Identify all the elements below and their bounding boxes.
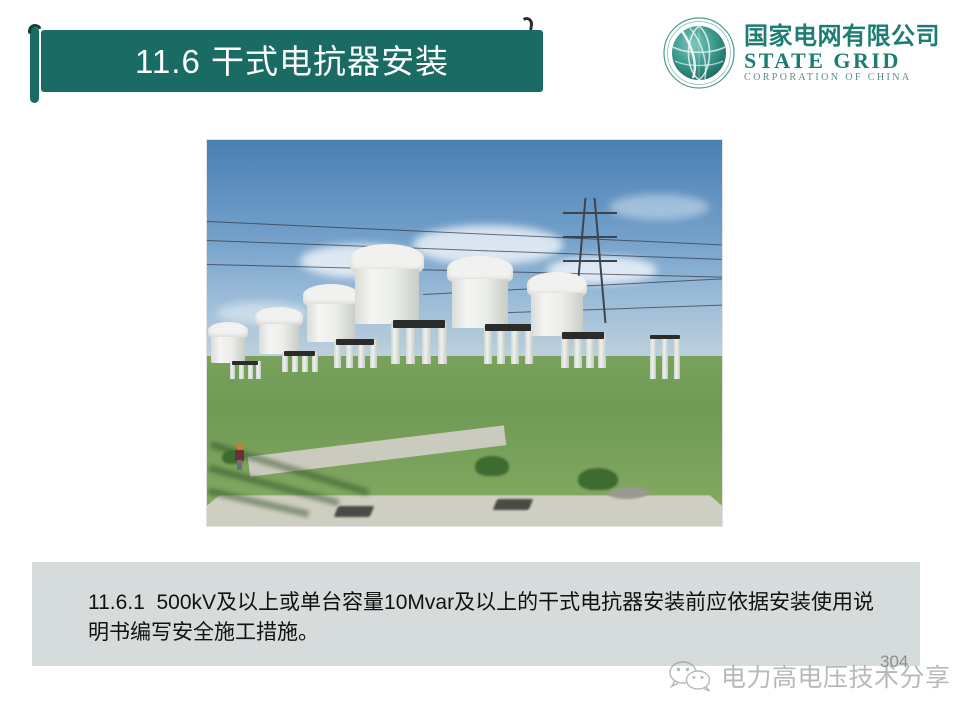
photo-cloud bbox=[609, 194, 709, 220]
wechat-icon bbox=[668, 660, 712, 692]
body-paragraph: 11.6.1 500kV及以上或单台容量10Mvar及以上的干式电抗器安装前应依… bbox=[88, 588, 882, 649]
state-grid-logo-text: 国家电网有限公司 STATE GRID CORPORATION OF CHINA bbox=[744, 22, 940, 84]
photo-bush bbox=[578, 468, 618, 490]
photo-person-walking bbox=[235, 444, 244, 470]
wechat-watermark: 电力高电压技术分享 bbox=[668, 658, 951, 694]
state-grid-globe-emblem-icon bbox=[662, 16, 736, 90]
title-ribbon-pin bbox=[30, 27, 39, 103]
slide-canvas: 11.6 干式电抗器安装 bbox=[0, 0, 960, 720]
slide-photo bbox=[207, 140, 722, 526]
photo-bush bbox=[475, 456, 509, 476]
logo-company-en: STATE GRID bbox=[744, 49, 940, 72]
logo-company-cn: 国家电网有限公司 bbox=[744, 24, 940, 49]
slide-title-area: 11.6 干式电抗器安装 bbox=[0, 0, 600, 120]
state-grid-logo: 国家电网有限公司 STATE GRID CORPORATION OF CHINA bbox=[662, 14, 952, 92]
photo-manhole bbox=[334, 506, 374, 517]
logo-company-en-sub: CORPORATION OF CHINA bbox=[744, 72, 940, 84]
photo-ground bbox=[207, 356, 722, 526]
substation-reactor-photo bbox=[207, 140, 722, 526]
photo-manhole bbox=[493, 499, 533, 510]
body-text-box: 11.6.1 500kV及以上或单台容量10Mvar及以上的干式电抗器安装前应依… bbox=[32, 562, 920, 666]
title-banner: 11.6 干式电抗器安装 bbox=[41, 30, 543, 92]
page-title: 11.6 干式电抗器安装 bbox=[135, 45, 449, 78]
watermark-label: 电力高电压技术分享 bbox=[721, 658, 951, 694]
